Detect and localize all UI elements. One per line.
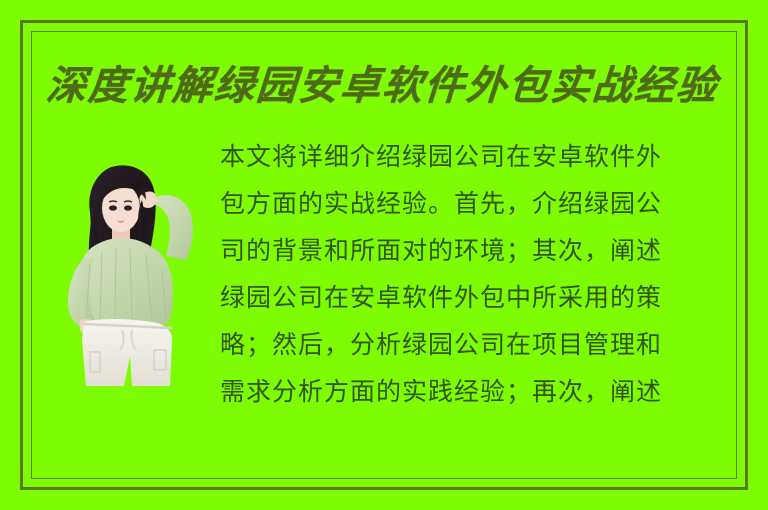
eye-right	[124, 205, 132, 210]
poster-canvas: 深度讲解绿园安卓软件外包实战经验	[0, 0, 768, 510]
body-line: 本文将详细介绍绿园公司在安卓软件外	[220, 133, 738, 180]
body-line: 略；然后，分析绿园公司在项目管理和	[220, 321, 738, 368]
eye-left	[109, 205, 117, 210]
body-line: 司的背景和所面对的环境；其次，阐述	[220, 227, 738, 274]
body-line: 包方面的实战经验。首先，介绍绿园公	[220, 180, 738, 227]
body-line: 绿园公司在安卓软件外包中所采用的策	[220, 274, 738, 321]
page-title: 深度讲解绿园安卓软件外包实战经验	[44, 58, 724, 116]
body-paragraph: 本文将详细介绍绿园公司在安卓软件外 包方面的实战经验。首先，介绍绿园公 司的背景…	[220, 133, 738, 415]
body-line: 需求分析方面的实践经验；再次，阐述	[220, 368, 738, 415]
portrait-illustration	[54, 160, 214, 386]
portrait-photo	[54, 160, 214, 386]
